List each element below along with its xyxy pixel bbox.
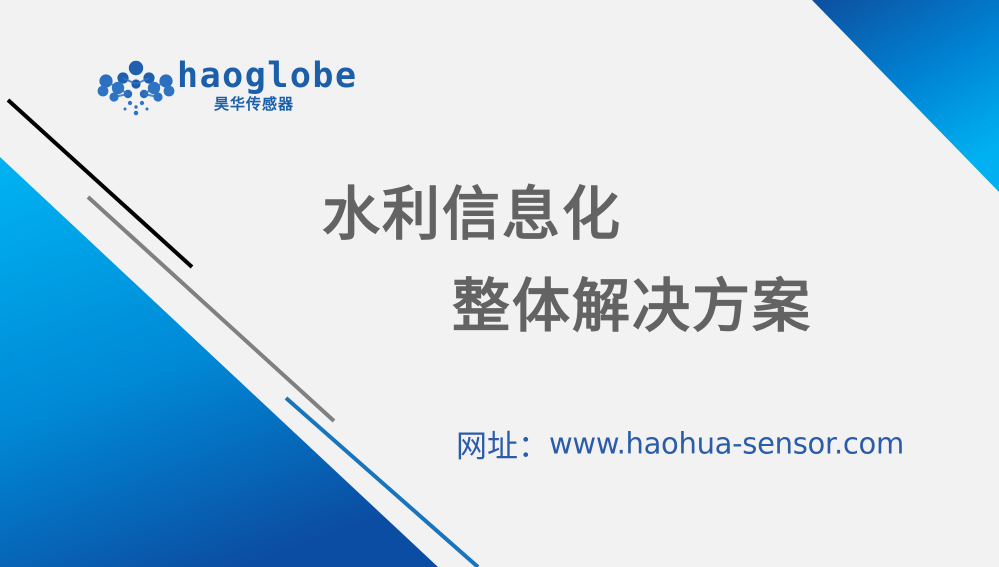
website-url[interactable]: www.haohua-sensor.com [549,427,904,461]
logo-subtext-chinese: 昊华传感器 [214,97,294,113]
website-label: 网址： [456,429,549,465]
slide-title: 水利信息化 整体解决方案 [300,168,900,352]
slide-canvas: haoglobe 昊华传感器 水利信息化 整体解决方案 网址：www.haohu… [0,0,999,567]
title-line-2: 整体解决方案 [452,260,900,352]
logo-wordmark: haoglobe [177,59,358,94]
haoglobe-network-dots-logo-icon [97,60,175,116]
website-line: 网址：www.haohua-sensor.com [456,421,904,466]
company-logo[interactable]: haoglobe 昊华传感器 [97,58,322,120]
title-line-1: 水利信息化 [322,168,900,260]
